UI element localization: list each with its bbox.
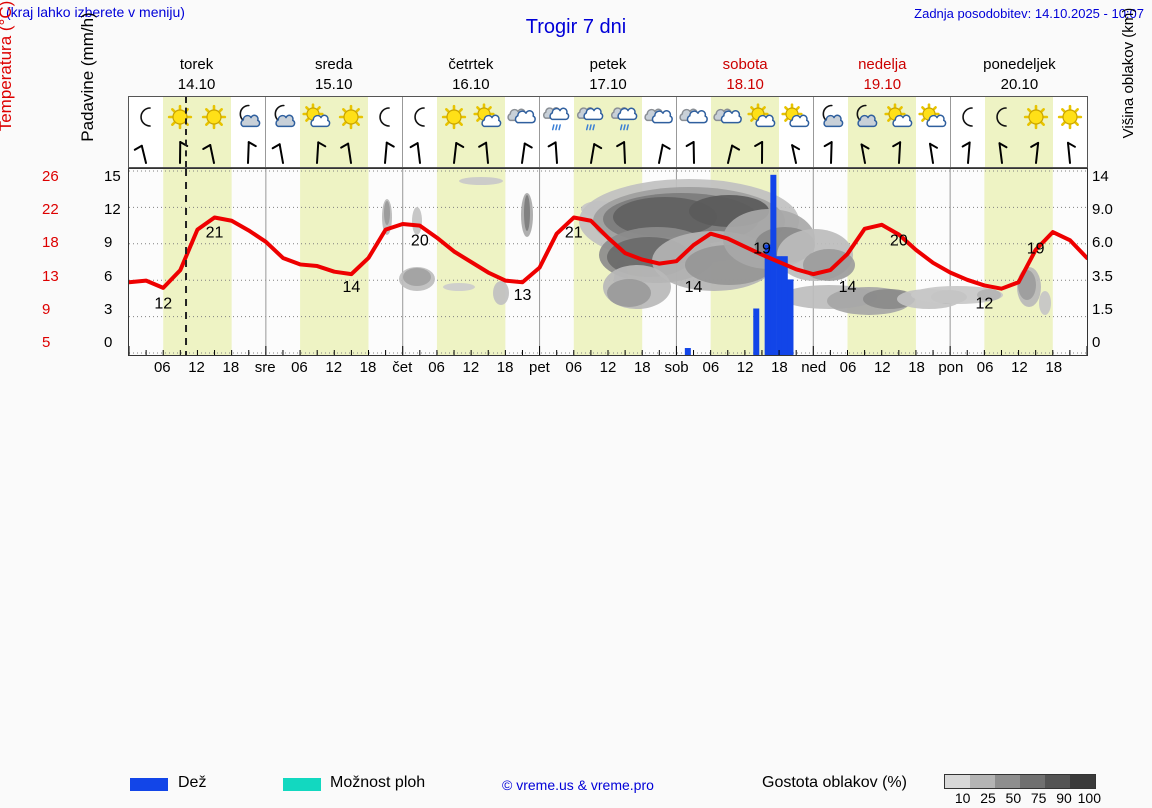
- time-axis-label: 12: [325, 359, 342, 376]
- wind-barb-icon: [1019, 138, 1053, 166]
- cloud-density-step-1: [970, 775, 995, 788]
- sky-wind-cell-0-3: [231, 97, 265, 167]
- axis-tick-label: 5: [42, 334, 50, 351]
- cloud-density-step-4: [1045, 775, 1070, 788]
- svg-text:20: 20: [411, 233, 429, 250]
- svg-text:21: 21: [206, 225, 224, 242]
- axis-tick-label: 1.5: [1092, 301, 1113, 318]
- time-axis: 061218sre061218čet061218pet061218sob0612…: [128, 357, 1088, 379]
- time-axis-label: 12: [737, 359, 754, 376]
- sky-wind-day-3: [540, 97, 677, 167]
- day-name: sobota: [677, 55, 814, 75]
- time-axis-label: 06: [565, 359, 582, 376]
- day-name: torek: [128, 55, 265, 75]
- wind-barb-icon: [745, 138, 779, 166]
- sun-icon: [437, 98, 471, 138]
- cloud-density-stop-label: 100: [1078, 790, 1101, 806]
- axis-tick-label: 0: [104, 334, 112, 351]
- axis-tick-label: 9: [104, 234, 112, 251]
- day-date: 14.10: [128, 75, 265, 95]
- sun-cloud-icon: [300, 98, 334, 138]
- svg-text:19: 19: [1027, 241, 1045, 258]
- wind-barb-icon: [231, 138, 265, 166]
- sky-wind-day-1: [266, 97, 403, 167]
- wind-barb-icon: [711, 138, 745, 166]
- time-axis-label: sre: [255, 359, 276, 376]
- sky-wind-day-4: [677, 97, 814, 167]
- wind-barb-icon: [677, 138, 711, 166]
- cloud-density-step-2: [995, 775, 1020, 788]
- axis-tick-label: 13: [42, 268, 59, 285]
- sun-cloud-icon: [745, 98, 779, 138]
- sun-icon: [1019, 98, 1053, 138]
- sky-wind-cell-0-2: [197, 97, 231, 167]
- day-header-3: petek17.10: [539, 52, 676, 96]
- moon-icon: [403, 98, 437, 138]
- time-axis-label: 18: [360, 359, 377, 376]
- sky-wind-cell-6-1: [985, 97, 1019, 167]
- forecast-plot: 122114201321141914201219101812: [128, 168, 1088, 356]
- day-name: petek: [539, 55, 676, 75]
- cloud-density-gradient: [944, 774, 1096, 789]
- time-axis-label: 18: [908, 359, 925, 376]
- cloud-icon: [642, 98, 676, 138]
- sky-wind-cell-4-2: [745, 97, 779, 167]
- axis-tick-label: 0: [1092, 334, 1100, 351]
- svg-text:12: 12: [154, 295, 172, 312]
- time-axis-label: 12: [600, 359, 617, 376]
- time-axis-label: 12: [1011, 359, 1028, 376]
- wind-barb-icon: [334, 138, 368, 166]
- day-date: 16.10: [402, 75, 539, 95]
- wind-barb-icon: [540, 138, 574, 166]
- rain-legend-label: Dež: [178, 774, 206, 792]
- day-date: 20.10: [951, 75, 1088, 95]
- precipitation-axis-title: Padavine (mm/h): [78, 0, 98, 172]
- svg-text:14: 14: [839, 279, 857, 296]
- sky-wind-cell-2-1: [437, 97, 471, 167]
- wind-barb-icon: [505, 138, 539, 166]
- sky-wind-cell-5-0: [814, 97, 848, 167]
- wind-barb-icon: [266, 138, 300, 166]
- day-header-0: torek14.10: [128, 52, 265, 96]
- svg-text:14: 14: [342, 279, 360, 296]
- axis-tick-label: 3: [104, 301, 112, 318]
- sky-wind-cell-1-2: [334, 97, 368, 167]
- wind-barb-icon: [471, 138, 505, 166]
- wind-barb-icon: [608, 138, 642, 166]
- day-name: četrtek: [402, 55, 539, 75]
- showers-legend-swatch: [283, 778, 321, 791]
- time-axis-label: 12: [188, 359, 205, 376]
- cloud-icon: [711, 98, 745, 138]
- time-axis-label: pet: [529, 359, 550, 376]
- last-update-stamp: Zadnja posodobitev: 14.10.2025 - 10:07: [914, 6, 1144, 21]
- sun-cloud-icon: [471, 98, 505, 138]
- sky-wind-cell-4-0: [677, 97, 711, 167]
- time-axis-label: 12: [874, 359, 891, 376]
- axis-tick-label: 22: [42, 201, 59, 218]
- sky-wind-cell-2-2: [471, 97, 505, 167]
- moon-icon: [985, 98, 1019, 138]
- sun-cloud-icon: [779, 98, 813, 138]
- showers-legend-label: Možnost ploh: [330, 774, 425, 792]
- time-axis-label: 06: [977, 359, 994, 376]
- moon-icon: [951, 98, 985, 138]
- day-header-2: četrtek16.10: [402, 52, 539, 96]
- time-axis-label: 06: [703, 359, 720, 376]
- svg-text:12: 12: [975, 295, 993, 312]
- cloud-density-step-5: [1070, 775, 1095, 788]
- moon-icon: [129, 98, 163, 138]
- wind-barb-icon: [1053, 138, 1087, 166]
- axis-tick-label: 9: [42, 301, 50, 318]
- sky-wind-cell-1-1: [300, 97, 334, 167]
- day-header-1: sreda15.10: [265, 52, 402, 96]
- wind-barb-icon: [368, 138, 402, 166]
- wind-barb-icon: [916, 138, 950, 166]
- wind-barb-icon: [300, 138, 334, 166]
- sky-wind-day-6: [951, 97, 1087, 167]
- svg-text:14: 14: [685, 279, 703, 296]
- time-axis-label: ned: [801, 359, 826, 376]
- sun-cloud-icon: [916, 98, 950, 138]
- time-axis-label: 06: [154, 359, 171, 376]
- day-date: 17.10: [539, 75, 676, 95]
- sky-wind-cell-5-3: [916, 97, 950, 167]
- wind-barb-icon: [197, 138, 231, 166]
- cloud-density-stop-label: 90: [1056, 790, 1072, 806]
- day-name: ponedeljek: [951, 55, 1088, 75]
- time-axis-label: 18: [771, 359, 788, 376]
- sun-icon: [197, 98, 231, 138]
- time-axis-label: 06: [840, 359, 857, 376]
- sky-wind-cell-6-0: [951, 97, 985, 167]
- time-axis-label: 18: [634, 359, 651, 376]
- cloud-rain-icon: [574, 98, 608, 138]
- sky-wind-cell-3-3: [642, 97, 676, 167]
- sky-wind-cell-2-3: [505, 97, 539, 167]
- day-header-6: ponedeljek20.10: [951, 52, 1088, 96]
- moon-cloud-icon: [231, 98, 265, 138]
- moon-cloud-icon: [266, 98, 300, 138]
- axis-tick-label: 15: [104, 168, 121, 185]
- time-axis-label: 06: [428, 359, 445, 376]
- cloud-density-step-0: [945, 775, 970, 788]
- time-axis-label: 18: [1045, 359, 1062, 376]
- axis-tick-label: 6.0: [1092, 234, 1113, 251]
- cloud-density-step-3: [1020, 775, 1045, 788]
- moon-cloud-icon: [848, 98, 882, 138]
- sun-cloud-icon: [882, 98, 916, 138]
- sky-wind-cell-3-2: [608, 97, 642, 167]
- cloud-rain-icon: [540, 98, 574, 138]
- cloud-density-stop-label: 75: [1031, 790, 1047, 806]
- moon-cloud-icon: [814, 98, 848, 138]
- sun-icon: [163, 98, 197, 138]
- legend: Dež Možnost ploh © vreme.us & vreme.pro …: [0, 386, 1152, 426]
- svg-text:20: 20: [890, 233, 908, 250]
- wind-barb-icon: [882, 138, 916, 166]
- sky-wind-day-5: [814, 97, 951, 167]
- copyright-link[interactable]: © vreme.us & vreme.pro: [502, 777, 654, 793]
- time-axis-label: čet: [392, 359, 412, 376]
- axis-tick-label: 18: [42, 234, 59, 251]
- axis-tick-label: 26: [42, 168, 59, 185]
- svg-text:13: 13: [514, 287, 532, 304]
- wind-barb-icon: [779, 138, 813, 166]
- axis-tick-label: 9.0: [1092, 201, 1113, 218]
- cloud-icon: [505, 98, 539, 138]
- wind-barb-icon: [437, 138, 471, 166]
- axis-tick-label: 12: [104, 201, 121, 218]
- day-date: 19.10: [814, 75, 951, 95]
- sky-wind-cell-6-2: [1019, 97, 1053, 167]
- wind-barb-icon: [129, 138, 163, 166]
- cloud-density-stop-label: 10: [955, 790, 971, 806]
- sun-icon: [1053, 98, 1087, 138]
- time-axis-label: 12: [463, 359, 480, 376]
- cloud-density-stop-label: 25: [980, 790, 996, 806]
- sky-wind-cell-1-3: [368, 97, 402, 167]
- svg-text:19: 19: [753, 241, 771, 258]
- wind-barb-icon: [163, 138, 197, 166]
- day-header-4: sobota18.10: [677, 52, 814, 96]
- sky-wind-cell-4-3: [779, 97, 813, 167]
- day-name: sreda: [265, 55, 402, 75]
- cloud-icon: [677, 98, 711, 138]
- wind-barb-icon: [951, 138, 985, 166]
- sky-and-wind-band: [128, 96, 1088, 168]
- day-date: 15.10: [265, 75, 402, 95]
- day-date: 18.10: [677, 75, 814, 95]
- sky-wind-day-0: [129, 97, 266, 167]
- wind-barb-icon: [985, 138, 1019, 166]
- wind-barb-icon: [642, 138, 676, 166]
- moon-icon: [368, 98, 402, 138]
- time-axis-label: 18: [497, 359, 514, 376]
- sky-wind-cell-3-0: [540, 97, 574, 167]
- time-axis-label: pon: [938, 359, 963, 376]
- time-axis-label: sob: [664, 359, 688, 376]
- axis-tick-label: 6: [104, 268, 112, 285]
- wind-barb-icon: [403, 138, 437, 166]
- wind-barb-icon: [574, 138, 608, 166]
- axis-tick-label: 14: [1092, 168, 1109, 185]
- sky-wind-cell-5-1: [848, 97, 882, 167]
- rain-legend-swatch: [130, 778, 168, 791]
- cloud-density-legend-label: Gostota oblakov (%): [762, 774, 907, 792]
- sun-icon: [334, 98, 368, 138]
- cloud-density-scale-numbers: 1025507590100: [938, 790, 1108, 808]
- day-name: nedelja: [814, 55, 951, 75]
- sky-wind-cell-6-3: [1053, 97, 1087, 167]
- sky-wind-cell-5-2: [882, 97, 916, 167]
- sky-wind-cell-0-1: [163, 97, 197, 167]
- sky-wind-cell-2-0: [403, 97, 437, 167]
- wind-barb-icon: [848, 138, 882, 166]
- svg-text:21: 21: [565, 225, 583, 242]
- sky-wind-cell-4-1: [711, 97, 745, 167]
- temperature-axis-title: Temperatura (°C): [0, 0, 16, 166]
- cloud-density-stop-label: 50: [1006, 790, 1022, 806]
- time-axis-label: 06: [291, 359, 308, 376]
- cloud-height-axis-title: Višina oblakov (km): [1120, 0, 1140, 168]
- sky-wind-day-2: [403, 97, 540, 167]
- axis-tick-label: 3.5: [1092, 268, 1113, 285]
- day-header-band: torek14.10sreda15.10četrtek16.10petek17.…: [128, 52, 1088, 96]
- now-marker-line-top: [185, 97, 187, 167]
- day-header-5: nedelja19.10: [814, 52, 951, 96]
- sky-wind-cell-1-0: [266, 97, 300, 167]
- sky-wind-cell-3-1: [574, 97, 608, 167]
- cloud-rain-icon: [608, 98, 642, 138]
- sky-wind-cell-0-0: [129, 97, 163, 167]
- time-axis-label: 18: [223, 359, 240, 376]
- wind-barb-icon: [814, 138, 848, 166]
